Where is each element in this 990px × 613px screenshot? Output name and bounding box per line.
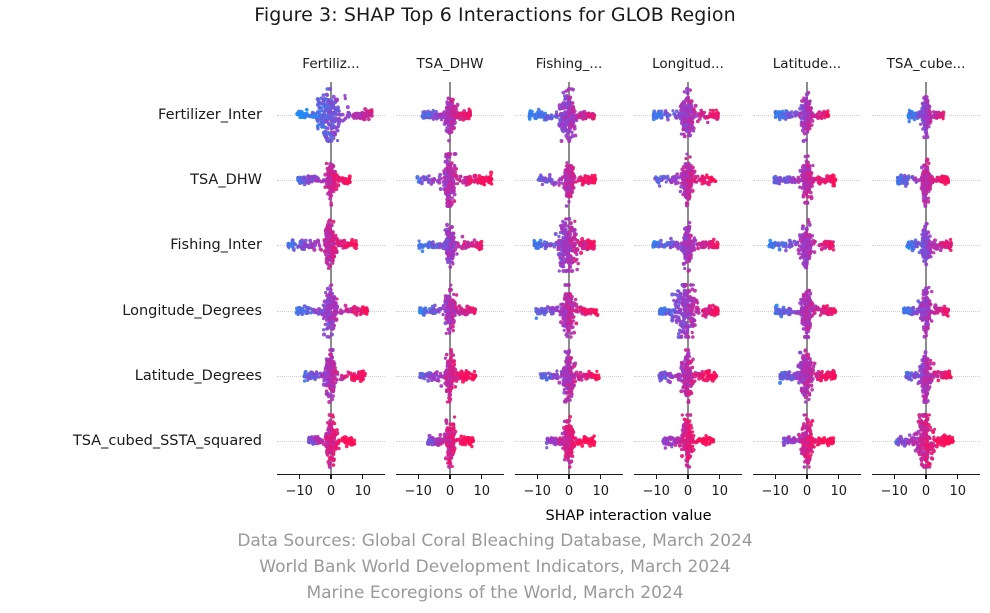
x-tick-2 (481, 475, 482, 479)
x-tick-0 (537, 475, 538, 479)
beeswarm-r4-c3 (634, 348, 742, 404)
beeswarm-r3-c2 (515, 283, 623, 339)
column-header-0: Fertiliz... (277, 56, 385, 72)
beeswarm-r4-c0 (277, 348, 385, 404)
beeswarm-r0-c4 (753, 87, 861, 143)
beeswarm-r5-c3 (634, 413, 742, 469)
x-tick-label-1: 0 (684, 484, 692, 499)
beeswarm-r5-c1 (396, 413, 504, 469)
beeswarm-r0-c2 (515, 87, 623, 143)
x-tick-1 (449, 475, 450, 479)
beeswarm-r2-c2 (515, 217, 623, 273)
beeswarm-r5-c2 (515, 413, 623, 469)
x-tick-label-2: 10 (711, 484, 728, 499)
beeswarm-r1-c4 (753, 152, 861, 208)
data-source-line-2: World Bank World Development Indicators,… (0, 557, 990, 577)
x-tick-2 (600, 475, 601, 479)
x-tick-2 (362, 475, 363, 479)
column-header-1: TSA_DHW (396, 56, 504, 72)
x-tick-label-1: 0 (565, 484, 573, 499)
x-tick-2 (719, 475, 720, 479)
y-axis-label-3: Longitude_Degrees (4, 303, 262, 319)
x-tick-0 (775, 475, 776, 479)
y-axis-label-4: Latitude_Degrees (4, 368, 262, 384)
column-header-5: TSA_cube... (872, 56, 980, 72)
x-tick-1 (687, 475, 688, 479)
data-source-line-1: Data Sources: Global Coral Bleaching Dat… (0, 531, 990, 551)
beeswarm-r3-c4 (753, 283, 861, 339)
y-axis-labels: Fertilizer_InterTSA_DHWFishing_InterLong… (0, 82, 262, 474)
x-tick-label-2: 10 (473, 484, 490, 499)
x-tick-label-1: 0 (922, 484, 930, 499)
x-tick-1 (568, 475, 569, 479)
x-tick-0 (656, 475, 657, 479)
beeswarm-r2-c1 (396, 217, 504, 273)
beeswarm-r2-c4 (753, 217, 861, 273)
x-tick-0 (299, 475, 300, 479)
subplot-column-0: Fertiliz...−10010 (277, 82, 385, 474)
beeswarm-r1-c0 (277, 152, 385, 208)
beeswarm-r1-c1 (396, 152, 504, 208)
page-title: Figure 3: SHAP Top 6 Interactions for GL… (0, 4, 990, 26)
x-tick-label-1: 0 (446, 484, 454, 499)
y-axis-label-5: TSA_cubed_SSTA_squared (4, 433, 262, 449)
y-axis-label-0: Fertilizer_Inter (4, 107, 262, 123)
beeswarm-r1-c5 (872, 152, 980, 208)
x-tick-label-1: 0 (327, 484, 335, 499)
x-tick-1 (925, 475, 926, 479)
beeswarm-r0-c3 (634, 87, 742, 143)
x-tick-label-0: −10 (643, 484, 670, 499)
column-header-4: Latitude... (753, 56, 861, 72)
x-tick-label-2: 10 (354, 484, 371, 499)
beeswarm-r0-c0 (277, 87, 385, 143)
y-axis-label-2: Fishing_Inter (4, 237, 262, 253)
beeswarm-r4-c5 (872, 348, 980, 404)
x-axis-title: SHAP interaction value (277, 508, 980, 524)
x-tick-label-2: 10 (592, 484, 609, 499)
beeswarm-r2-c3 (634, 217, 742, 273)
column-header-2: Fishing_... (515, 56, 623, 72)
x-tick-0 (418, 475, 419, 479)
beeswarm-r5-c5 (872, 413, 980, 469)
x-tick-2 (838, 475, 839, 479)
x-tick-1 (806, 475, 807, 479)
beeswarm-r5-c0 (277, 413, 385, 469)
beeswarm-r4-c2 (515, 348, 623, 404)
beeswarm-r0-c1 (396, 87, 504, 143)
column-header-3: Longitud... (634, 56, 742, 72)
x-tick-label-0: −10 (881, 484, 908, 499)
x-tick-1 (330, 475, 331, 479)
y-axis-label-1: TSA_DHW (4, 172, 262, 188)
beeswarm-r4-c4 (753, 348, 861, 404)
subplot-column-5: TSA_cube...−10010 (872, 82, 980, 474)
x-tick-label-2: 10 (949, 484, 966, 499)
x-tick-0 (894, 475, 895, 479)
x-tick-label-0: −10 (405, 484, 432, 499)
subplot-column-4: Latitude...−10010 (753, 82, 861, 474)
beeswarm-r5-c4 (753, 413, 861, 469)
beeswarm-r0-c5 (872, 87, 980, 143)
beeswarm-r4-c1 (396, 348, 504, 404)
subplot-column-2: Fishing_...−10010 (515, 82, 623, 474)
beeswarm-r3-c0 (277, 283, 385, 339)
x-tick-label-1: 0 (803, 484, 811, 499)
beeswarm-r3-c1 (396, 283, 504, 339)
beeswarm-r2-c0 (277, 217, 385, 273)
beeswarm-r1-c2 (515, 152, 623, 208)
beeswarm-r3-c5 (872, 283, 980, 339)
x-tick-label-0: −10 (524, 484, 551, 499)
x-tick-label-2: 10 (830, 484, 847, 499)
beeswarm-r2-c5 (872, 217, 980, 273)
beeswarm-r1-c3 (634, 152, 742, 208)
beeswarm-r3-c3 (634, 283, 742, 339)
x-tick-2 (957, 475, 958, 479)
x-tick-label-0: −10 (762, 484, 789, 499)
subplot-grid: Fertiliz...−10010TSA_DHW−10010Fishing_..… (277, 82, 980, 474)
shap-interaction-figure: Figure 3: SHAP Top 6 Interactions for GL… (0, 0, 990, 613)
subplot-column-1: TSA_DHW−10010 (396, 82, 504, 474)
data-source-line-3: Marine Ecoregions of the World, March 20… (0, 583, 990, 603)
x-tick-label-0: −10 (286, 484, 313, 499)
subplot-column-3: Longitud...−10010 (634, 82, 742, 474)
